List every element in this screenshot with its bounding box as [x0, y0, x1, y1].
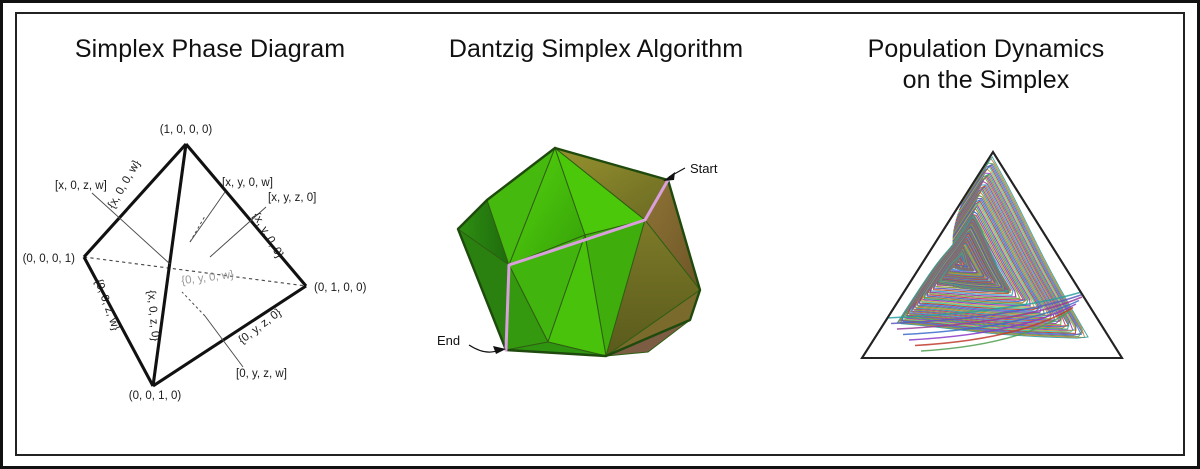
leader-face-xy0w: [190, 192, 225, 242]
population-dynamics-simplex: [862, 152, 1122, 358]
tetra-edge-label-hidden: {0, y, 0, w}: [181, 269, 235, 287]
leader-face-0yzw-dash: [182, 292, 205, 316]
tetra-vertex-label: (1, 0, 0, 0): [160, 124, 213, 136]
tetra-edge-label: {x, y, 0, 0}: [250, 211, 286, 261]
tetra-edge-top-bottom: [153, 144, 186, 386]
tetra-face-label: [x, 0, z, w]: [55, 180, 107, 192]
tetra-edge-label: {x, 0, z, 0}: [145, 290, 161, 342]
figures-graphics-layer: (1, 0, 0, 0) (0, 0, 0, 1) (0, 1, 0, 0) (…: [0, 0, 1200, 469]
tetra-vertex-label: (0, 1, 0, 0): [314, 282, 367, 294]
tetra-edge-label: {x, 0, 0, w}: [106, 158, 143, 211]
start-label: Start: [690, 161, 718, 176]
tetra-vertex-label: (0, 0, 0, 1): [23, 253, 76, 265]
polytope-diagram: Start End: [437, 148, 718, 356]
end-label: End: [437, 333, 460, 348]
tetra-face-label: [x, y, z, 0]: [268, 192, 316, 204]
tetrahedron-diagram: (1, 0, 0, 0) (0, 0, 0, 1) (0, 1, 0, 0) (…: [23, 124, 367, 402]
tetra-vertex-label: (0, 0, 1, 0): [129, 390, 182, 402]
tetra-face-label: [0, y, z, w]: [236, 368, 287, 380]
tetra-edge-label: {0, 0, z, w}: [92, 278, 122, 333]
tetra-face-label: [x, y, 0, w]: [222, 177, 273, 189]
tetra-edge-top-right: [186, 144, 306, 286]
leader-face-0yzw: [205, 316, 243, 367]
figure-root: Simplex Phase Diagram Dantzig Simplex Al…: [0, 0, 1200, 469]
